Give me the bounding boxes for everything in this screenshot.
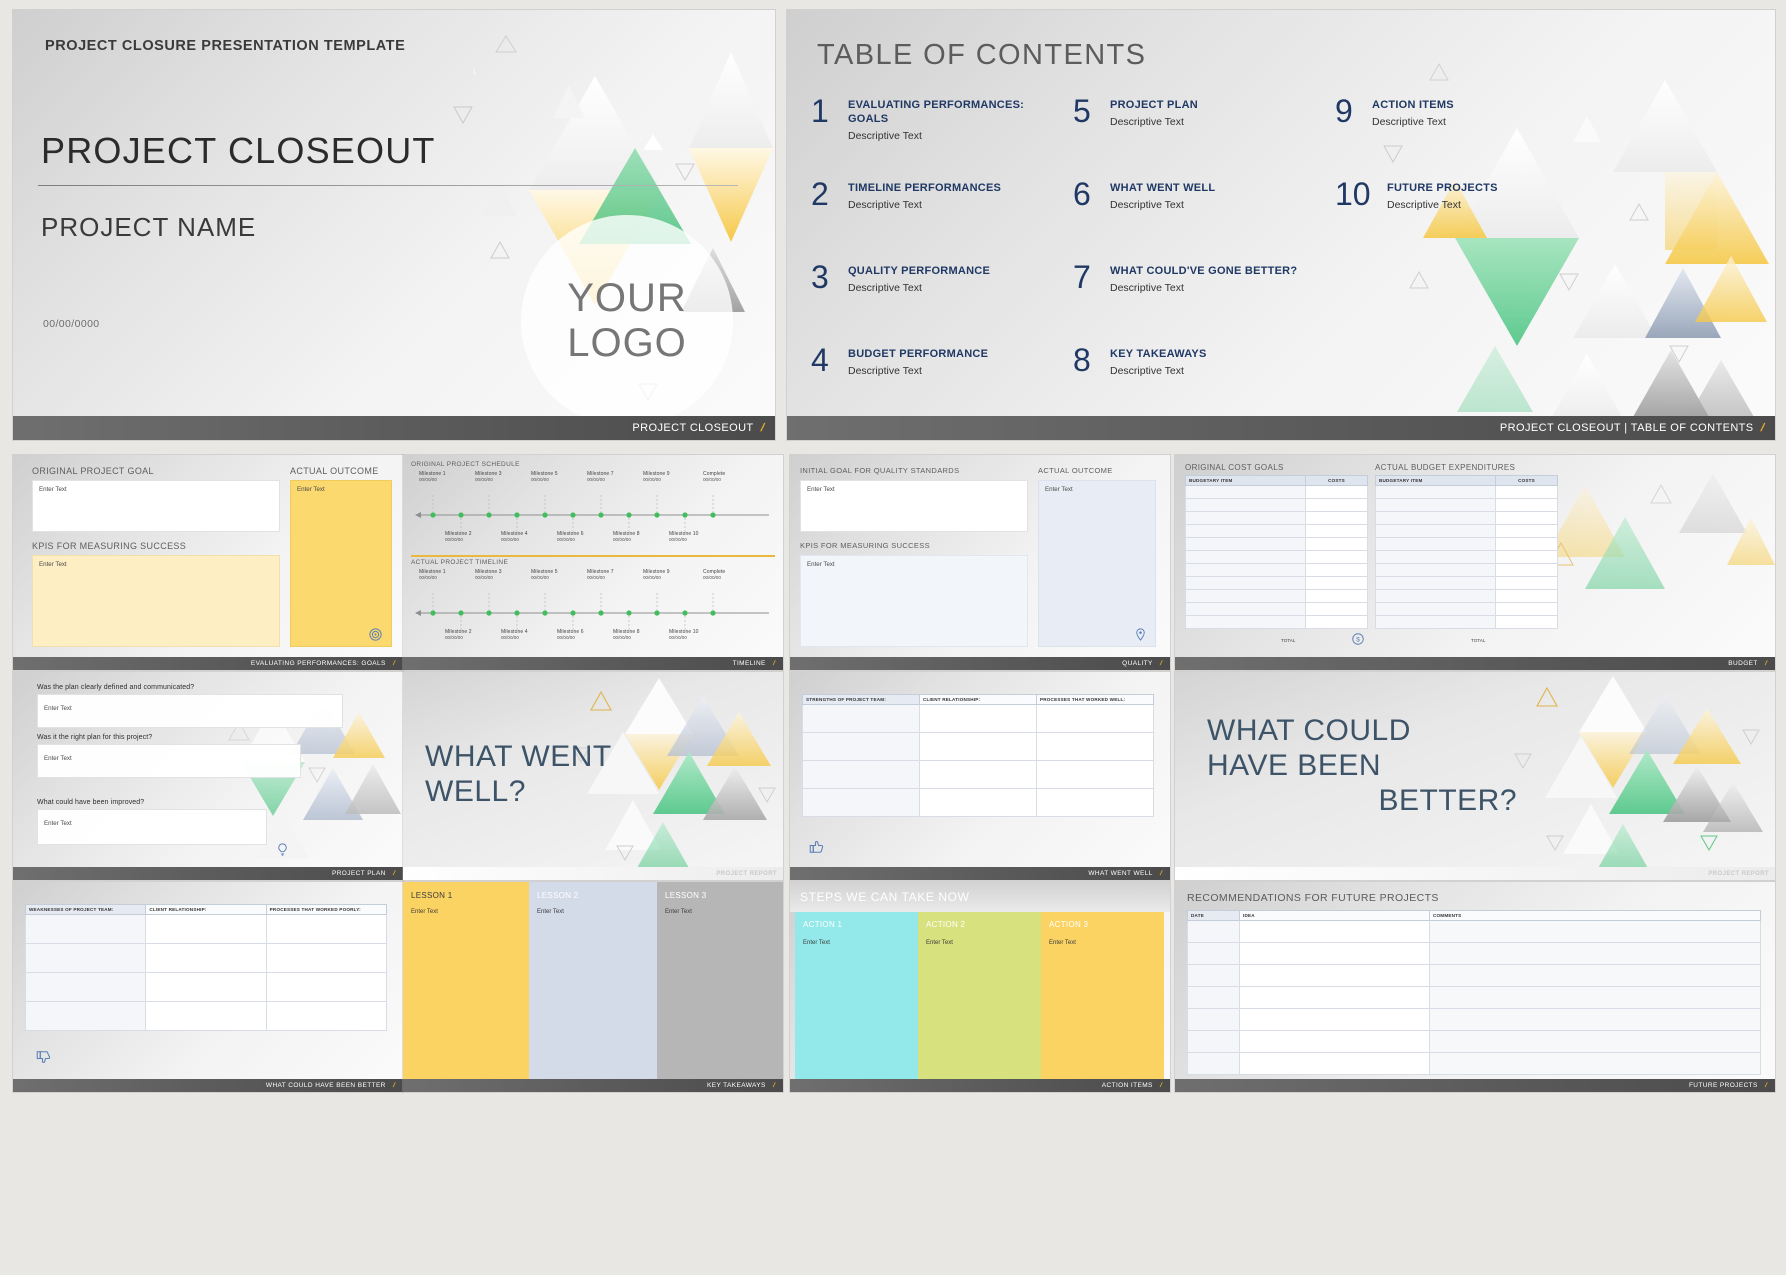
placeholder-text: Enter Text <box>411 909 438 915</box>
placeholder-text: Enter Text <box>926 940 953 946</box>
timeline-actual: Milestone 1 00/00/00 Milestone 3 00/00/0… <box>411 569 775 649</box>
slide-footer: QUALITY / <box>790 657 1170 670</box>
milestone-date: 00/00/00 <box>587 575 614 580</box>
lesson-column-3[interactable]: LESSON 3 Enter Text <box>657 882 783 1079</box>
footer-text: ACTION ITEMS <box>1102 1082 1153 1089</box>
cell[interactable] <box>26 1002 146 1031</box>
col-header-item: BUDGETARY ITEM <box>1376 476 1496 486</box>
milestone-date: 00/00/00 <box>501 635 528 640</box>
milestone-date: 00/00/00 <box>643 477 670 482</box>
action-1-title: ACTION 1 <box>803 920 842 929</box>
footer-text: PROJECT REPORT <box>716 871 777 877</box>
toc-heading: QUALITY PERFORMANCE <box>848 265 990 279</box>
slide-footer: EVALUATING PERFORMANCES: GOALS / <box>13 657 403 670</box>
deck-subtitle: PROJECT NAME <box>41 212 256 243</box>
slide-footer: PROJECT REPORT <box>403 867 783 880</box>
slide-action-items[interactable]: STEPS WE CAN TAKE NOW ACTION 1 Enter Tex… <box>790 882 1170 1092</box>
cell[interactable] <box>1186 616 1306 629</box>
question-2-label: Was it the right plan for this project? <box>37 734 152 741</box>
slide-footer: PROJECT CLOSEOUT / <box>13 416 775 440</box>
title-divider <box>38 185 738 186</box>
toc-item-1[interactable]: 1 EVALUATING PERFORMANCES: GOALS Descrip… <box>811 96 1063 179</box>
input-original-goal[interactable]: Enter Text <box>32 480 280 532</box>
milestone-date: 00/00/00 <box>587 477 614 482</box>
col-header-processes: PROCESSES THAT WORKED WELL: <box>1037 695 1154 705</box>
input-question-3[interactable]: Enter Text <box>37 809 267 845</box>
milestone-date: 00/00/00 <box>557 635 584 640</box>
placeholder-text: Enter Text <box>38 745 300 762</box>
milestone-date: 00/00/00 <box>531 575 558 580</box>
cell[interactable] <box>1430 943 1761 965</box>
section-title-line-2: HAVE BEEN <box>1207 749 1517 784</box>
cell[interactable] <box>1496 512 1558 525</box>
cell[interactable] <box>1306 603 1368 616</box>
input-kpi[interactable]: Enter Text <box>800 555 1028 647</box>
placeholder-text: Enter Text <box>801 556 1027 568</box>
target-icon <box>368 627 383 642</box>
cell[interactable] <box>1240 965 1430 987</box>
footer-text: QUALITY <box>1122 660 1153 667</box>
cell[interactable] <box>1188 943 1240 965</box>
cell[interactable] <box>1376 538 1496 551</box>
actions-title: STEPS WE CAN TAKE NOW <box>800 890 970 904</box>
cell[interactable] <box>1186 551 1306 564</box>
footer-accent-slash: / <box>1764 660 1768 667</box>
cell[interactable] <box>1496 499 1558 512</box>
timeline-divider <box>411 555 775 557</box>
input-actual-outcome[interactable]: Enter Text <box>1038 480 1156 647</box>
label-kpi: KPIs for MEASURING SUCCESS <box>32 541 186 551</box>
label-original-goal: ORIGINAL PROJECT GOAL <box>32 466 154 476</box>
toc-heading: WHAT WENT WELL <box>1110 182 1215 196</box>
cell[interactable] <box>1496 486 1558 499</box>
col-header-cost: COSTS <box>1306 476 1368 486</box>
input-question-1[interactable]: Enter Text <box>37 694 343 728</box>
col-header-weaknesses: WEAKNESSES OF PROJECT TEAM: <box>26 905 146 915</box>
cell[interactable] <box>1376 512 1496 525</box>
label-actual-outcome: ACTUAL OUTCOME <box>1038 466 1113 475</box>
slide-timeline[interactable]: ORIGINAL PROJECT SCHEDULE <box>403 455 783 670</box>
footer-accent-slash: / <box>392 1082 396 1089</box>
milestone-date: 00/00/00 <box>419 575 446 580</box>
col-header-cost: COSTS <box>1496 476 1558 486</box>
placeholder-text: Enter Text <box>33 556 279 568</box>
footer-accent-slash: / <box>1159 870 1163 877</box>
cell[interactable] <box>1376 551 1496 564</box>
toc-item-9[interactable]: 9 ACTION ITEMS Descriptive Text <box>1335 96 1595 179</box>
deck-title: PROJECT CLOSEOUT <box>41 130 436 172</box>
toc-item-7[interactable]: 7 WHAT COULD'VE GONE BETTER? Descriptive… <box>1073 262 1325 345</box>
table-actual-budget[interactable]: BUDGETARY ITEMCOSTS <box>1375 475 1558 629</box>
toc-desc: Descriptive Text <box>1387 199 1498 211</box>
cell[interactable] <box>1188 1009 1240 1031</box>
cell[interactable] <box>1186 486 1306 499</box>
cell[interactable] <box>1496 551 1558 564</box>
milestone-date: 00/00/00 <box>669 635 699 640</box>
cell[interactable] <box>1430 921 1761 943</box>
toc-desc: Descriptive Text <box>1110 116 1198 128</box>
input-actual-outcome[interactable]: Enter Text <box>290 480 392 647</box>
toc-desc: Descriptive Text <box>1110 282 1297 294</box>
cell[interactable] <box>1306 551 1368 564</box>
action-2-title: ACTION 2 <box>926 920 965 929</box>
cell[interactable] <box>1240 1053 1430 1075</box>
toc-heading: WHAT COULD'VE GONE BETTER? <box>1110 265 1297 279</box>
logo-placeholder[interactable]: YOUR LOGO <box>521 215 733 427</box>
cell[interactable] <box>26 973 146 1002</box>
cell[interactable] <box>803 733 920 761</box>
cell[interactable] <box>1240 943 1430 965</box>
cell[interactable] <box>26 915 146 944</box>
slide-footer: PROJECT PLAN / <box>13 867 403 880</box>
cell[interactable] <box>1376 499 1496 512</box>
table-went-well[interactable]: STRENGTHS OF PROJECT TEAM: CLIENT RELATI… <box>802 694 1154 817</box>
placeholder-text: Enter Text <box>1039 481 1155 493</box>
cell[interactable] <box>920 789 1037 817</box>
cell[interactable] <box>1496 590 1558 603</box>
toc-item-2[interactable]: 2 TIMELINE PERFORMANCES Descriptive Text <box>811 179 1063 262</box>
milestone-date: 00/00/00 <box>669 537 699 542</box>
input-initial-goal-quality[interactable]: Enter Text <box>800 480 1028 532</box>
label-kpi: KPIs for MEASURING SUCCESS <box>800 541 930 550</box>
cell[interactable] <box>1240 921 1430 943</box>
footer-text: WHAT WENT WELL <box>1088 870 1152 877</box>
cell[interactable] <box>1430 1031 1761 1053</box>
slide-table-of-contents[interactable]: TABLE OF CONTENTS 1 EVALUATING PERFORMAN… <box>787 10 1775 440</box>
toc-item-10[interactable]: 10 FUTURE PROJECTS Descriptive Text <box>1335 179 1595 262</box>
footer-accent-slash: / <box>759 422 766 434</box>
milestone-date: 00/00/00 <box>445 537 472 542</box>
slide-footer: KEY TAKEAWAYS / <box>403 1079 783 1092</box>
toc-desc: Descriptive Text <box>1110 199 1215 211</box>
cell[interactable] <box>1376 590 1496 603</box>
cell[interactable] <box>1240 1009 1430 1031</box>
toc-heading: ACTION ITEMS <box>1372 99 1454 113</box>
cell[interactable] <box>1306 538 1368 551</box>
cell[interactable] <box>1376 577 1496 590</box>
question-3-label: What could have been improved? <box>37 799 144 806</box>
cell[interactable] <box>1186 525 1306 538</box>
toc-desc: Descriptive Text <box>848 282 990 294</box>
cell[interactable] <box>1306 499 1368 512</box>
table-future-projects[interactable]: DATE IDEA COMMENTS <box>1187 910 1761 1075</box>
slide-budget[interactable]: ORIGINAL COST GOALS BUDGETARY ITEMCOSTS … <box>1175 455 1775 670</box>
cell[interactable] <box>146 973 266 1002</box>
lesson-column-1[interactable]: LESSON 1 Enter Text <box>403 882 529 1079</box>
slide-quality[interactable]: INITIAL GOAL FOR QUALITY STANDARDS Enter… <box>790 455 1170 670</box>
cell[interactable] <box>1306 525 1368 538</box>
col-header-idea: IDEA <box>1240 911 1430 921</box>
toc-item-6[interactable]: 6 WHAT WENT WELL Descriptive Text <box>1073 179 1325 262</box>
footer-text: PROJECT REPORT <box>1708 871 1769 877</box>
cell[interactable] <box>1037 761 1154 789</box>
slide-future-projects[interactable]: RECOMMENDATIONS FOR FUTURE PROJECTS DATE… <box>1175 882 1775 1092</box>
footer-accent-slash: / <box>1764 1082 1768 1089</box>
toc-grid: 1 EVALUATING PERFORMANCES: GOALS Descrip… <box>811 96 1765 428</box>
cell[interactable] <box>1188 965 1240 987</box>
milestone-date: 00/00/00 <box>501 537 528 542</box>
section-title-line-1: WHAT WENT <box>425 740 655 775</box>
cell[interactable] <box>1496 564 1558 577</box>
footer-text: BUDGET <box>1728 660 1758 667</box>
lesson-3-title: LESSON 3 <box>665 891 707 900</box>
placeholder-text: Enter Text <box>537 909 564 915</box>
cell[interactable] <box>1496 525 1558 538</box>
quality-gauge-icon <box>1133 627 1148 642</box>
slide-what-could-be-better-title[interactable]: WHAT COULD HAVE BEEN BETTER? PROJECT REP… <box>1175 672 1775 880</box>
cell[interactable] <box>1240 987 1430 1009</box>
footer-accent-slash: / <box>772 660 776 667</box>
milestone-date: 00/00/00 <box>613 537 640 542</box>
cell[interactable] <box>1430 965 1761 987</box>
cell[interactable] <box>1188 921 1240 943</box>
cell[interactable] <box>1376 603 1496 616</box>
cell[interactable] <box>1186 538 1306 551</box>
footer-text: EVALUATING PERFORMANCES: GOALS <box>251 660 386 667</box>
slide-footer: PROJECT CLOSEOUT | TABLE OF CONTENTS / <box>787 416 1775 440</box>
label-actual-outcome: ACTUAL OUTCOME <box>290 466 379 476</box>
footer-text: PROJECT PLAN <box>332 870 386 877</box>
cell[interactable] <box>803 705 920 733</box>
footer-text: WHAT COULD HAVE BEEN BETTER <box>266 1082 386 1089</box>
milestone-date: 00/00/00 <box>643 575 670 580</box>
toc-heading: TIMELINE PERFORMANCES <box>848 182 1001 196</box>
toc-heading: BUDGET PERFORMANCE <box>848 348 988 362</box>
footer-text: TIMELINE <box>733 660 766 667</box>
toc-number: 1 <box>811 96 838 179</box>
label-original-schedule: ORIGINAL PROJECT SCHEDULE <box>411 461 520 468</box>
cell[interactable] <box>920 733 1037 761</box>
cell[interactable] <box>1188 1031 1240 1053</box>
cell[interactable] <box>1430 1053 1761 1075</box>
cell[interactable] <box>1306 564 1368 577</box>
milestone-date: 00/00/00 <box>475 575 502 580</box>
toc-heading: FUTURE PROJECTS <box>1387 182 1498 196</box>
cell[interactable] <box>1037 733 1154 761</box>
cell[interactable] <box>1306 616 1368 629</box>
cell[interactable] <box>1376 616 1496 629</box>
cell[interactable] <box>1186 499 1306 512</box>
label-original-cost-goals: ORIGINAL COST GOALS <box>1185 463 1284 472</box>
cell[interactable] <box>266 915 386 944</box>
footer-accent-slash: / <box>392 870 396 877</box>
cell[interactable] <box>920 761 1037 789</box>
cell[interactable] <box>1430 1009 1761 1031</box>
col-header-date: DATE <box>1188 911 1240 921</box>
footer-accent-slash: / <box>392 660 396 667</box>
milestone-date: 00/00/00 <box>613 635 640 640</box>
logo-line-2: LOGO <box>567 321 687 366</box>
cell[interactable] <box>1376 564 1496 577</box>
label-initial-goal-quality: INITIAL GOAL FOR QUALITY STANDARDS <box>800 466 959 475</box>
milestone-date: 00/00/00 <box>703 477 725 482</box>
col-header-item: BUDGETARY ITEM <box>1186 476 1306 486</box>
slide-key-takeaways[interactable]: LESSON 1 Enter Text LESSON 2 Enter Text … <box>403 882 783 1092</box>
slide-footer: PROJECT REPORT <box>1175 867 1775 880</box>
deck-kicker: PROJECT CLOSURE PRESENTATION TEMPLATE <box>45 38 405 54</box>
cell[interactable] <box>1376 486 1496 499</box>
cell[interactable] <box>1306 486 1368 499</box>
toc-number: 2 <box>811 179 838 262</box>
cell[interactable] <box>266 973 386 1002</box>
deck-date: 00/00/0000 <box>43 318 100 330</box>
label-actual-timeline: ACTUAL PROJECT TIMELINE <box>411 559 508 566</box>
money-icon: $ <box>1351 632 1366 647</box>
cell[interactable] <box>1188 1053 1240 1075</box>
action-column-1[interactable]: ACTION 1 Enter Text <box>795 912 918 1079</box>
footer-text: FUTURE PROJECTS <box>1689 1082 1758 1089</box>
cell[interactable] <box>146 944 266 973</box>
toc-number: 3 <box>811 262 838 345</box>
cell[interactable] <box>1496 538 1558 551</box>
cell[interactable] <box>1186 603 1306 616</box>
toc-item-spacer-a <box>1335 262 1595 345</box>
toc-number: 10 <box>1335 179 1377 262</box>
action-column-3[interactable]: ACTION 3 Enter Text <box>1041 912 1164 1079</box>
future-title: RECOMMENDATIONS FOR FUTURE PROJECTS <box>1187 892 1439 904</box>
table-original-cost-goals[interactable]: BUDGETARY ITEMCOSTS <box>1185 475 1368 629</box>
footer-text: KEY TAKEAWAYS <box>707 1082 766 1089</box>
action-column-2[interactable]: ACTION 2 Enter Text <box>918 912 1041 1079</box>
cell[interactable] <box>1306 512 1368 525</box>
slide-footer: FUTURE PROJECTS / <box>1175 1079 1775 1092</box>
milestone-date: 00/00/00 <box>419 477 446 482</box>
milestone-date: 00/00/00 <box>703 575 725 580</box>
lightbulb-icon <box>275 842 290 857</box>
label-actual-budget: ACTUAL BUDGET EXPENDITURES <box>1375 463 1515 472</box>
cell[interactable] <box>266 944 386 973</box>
table-better[interactable]: WEAKNESSES OF PROJECT TEAM: CLIENT RELAT… <box>25 904 387 1031</box>
lesson-1-title: LESSON 1 <box>411 891 453 900</box>
footer-accent-slash: / <box>772 1082 776 1089</box>
toc-heading: EVALUATING PERFORMANCES: GOALS <box>848 99 1063 127</box>
milestone-date: 00/00/00 <box>475 477 502 482</box>
milestone-date: 00/00/00 <box>531 477 558 482</box>
cell[interactable] <box>1037 705 1154 733</box>
cell[interactable] <box>1037 789 1154 817</box>
toc-number: 7 <box>1073 262 1100 345</box>
cell[interactable] <box>146 915 266 944</box>
thumbs-up-icon <box>808 838 826 856</box>
cell[interactable] <box>1240 1031 1430 1053</box>
logo-line-1: YOUR <box>567 276 687 321</box>
svg-text:$: $ <box>1356 636 1360 643</box>
toc-number: 9 <box>1335 96 1362 179</box>
cell[interactable] <box>1186 564 1306 577</box>
section-title-line-1: WHAT COULD <box>1207 714 1517 749</box>
input-question-2[interactable]: Enter Text <box>37 744 301 778</box>
toc-number: 5 <box>1073 96 1100 179</box>
cell[interactable] <box>920 705 1037 733</box>
cell[interactable] <box>1186 577 1306 590</box>
slide-footer: WHAT WENT WELL / <box>790 867 1170 880</box>
toc-item-5[interactable]: 5 PROJECT PLAN Descriptive Text <box>1073 96 1325 179</box>
toc-desc: Descriptive Text <box>1372 116 1454 128</box>
question-1-label: Was the plan clearly defined and communi… <box>37 684 194 691</box>
total-label-actual: TOTAL <box>1471 638 1485 643</box>
cell[interactable] <box>803 789 920 817</box>
cell[interactable] <box>1430 987 1761 1009</box>
placeholder-text: Enter Text <box>33 481 279 493</box>
cell[interactable] <box>266 1002 386 1031</box>
cell[interactable] <box>1496 603 1558 616</box>
footer-accent-slash: / <box>1159 660 1163 667</box>
slide-project-plan[interactable]: Was the plan clearly defined and communi… <box>13 672 403 880</box>
col-header-client: CLIENT RELATIONSHIP: <box>146 905 266 915</box>
cell[interactable] <box>26 944 146 973</box>
total-label-original: TOTAL <box>1281 638 1295 643</box>
timeline-original: Milestone 1 00/00/00 Milestone 3 00/00/0… <box>411 471 775 551</box>
cell[interactable] <box>1188 987 1240 1009</box>
slide-what-could-be-better[interactable]: WEAKNESSES OF PROJECT TEAM: CLIENT RELAT… <box>13 882 403 1092</box>
placeholder-text: Enter Text <box>38 810 266 827</box>
actions-title-bar: STEPS WE CAN TAKE NOW <box>790 882 1170 912</box>
placeholder-text: Enter Text <box>1049 940 1076 946</box>
slide-what-went-well-title[interactable]: WHAT WENT WELL? PROJECT REPORT <box>403 672 783 880</box>
toc-heading: KEY TAKEAWAYS <box>1110 348 1207 362</box>
toc-number: 6 <box>1073 179 1100 262</box>
cell[interactable] <box>1186 512 1306 525</box>
col-header-client: CLIENT RELATIONSHIP: <box>920 695 1037 705</box>
col-header-processes: PROCESSES THAT WORKED POORLY: <box>266 905 386 915</box>
lesson-2-title: LESSON 2 <box>537 891 579 900</box>
toc-desc: Descriptive Text <box>848 199 1001 211</box>
slide-footer: WHAT COULD HAVE BEEN BETTER / <box>13 1079 403 1092</box>
section-title-line-3: BETTER? <box>1207 784 1517 819</box>
input-kpi[interactable]: Enter Text <box>32 555 280 647</box>
placeholder-text: Enter Text <box>801 481 1027 493</box>
footer-accent-slash: / <box>1159 1082 1163 1089</box>
cell[interactable] <box>1496 577 1558 590</box>
slide-footer: ACTION ITEMS / <box>790 1079 1170 1092</box>
cell[interactable] <box>1186 590 1306 603</box>
cell[interactable] <box>803 761 920 789</box>
section-title: WHAT WENT WELL? <box>425 740 655 810</box>
thumbs-down-icon <box>35 1048 53 1066</box>
section-title: WHAT COULD HAVE BEEN BETTER? <box>1207 714 1517 818</box>
slide-footer: TIMELINE / <box>403 657 783 670</box>
toc-heading: PROJECT PLAN <box>1110 99 1198 113</box>
placeholder-text: Enter Text <box>665 909 692 915</box>
col-header-comments: COMMENTS <box>1430 911 1761 921</box>
footer-accent-slash: / <box>1759 422 1766 434</box>
toc-desc: Descriptive Text <box>848 365 988 377</box>
cell[interactable] <box>146 1002 266 1031</box>
placeholder-text: Enter Text <box>291 481 391 493</box>
toc-title: TABLE OF CONTENTS <box>817 39 1146 72</box>
cell[interactable] <box>1306 577 1368 590</box>
cell[interactable] <box>1376 525 1496 538</box>
slide-evaluating-goals[interactable]: ORIGINAL PROJECT GOAL Enter Text KPIs fo… <box>13 455 403 670</box>
section-title-line-2: WELL? <box>425 775 655 810</box>
footer-text: PROJECT CLOSEOUT | TABLE OF CONTENTS <box>1500 422 1754 434</box>
toc-desc: Descriptive Text <box>848 130 1063 142</box>
footer-text: PROJECT CLOSEOUT <box>632 422 753 434</box>
cell[interactable] <box>1496 616 1558 629</box>
slide-footer: BUDGET / <box>1175 657 1775 670</box>
lesson-column-2[interactable]: LESSON 2 Enter Text <box>529 882 657 1079</box>
milestone-date: 00/00/00 <box>445 635 472 640</box>
slide-overview-page: YOUR LOGO PROJECT CLOSURE PRESENTATION T… <box>0 0 1786 1275</box>
toc-desc: Descriptive Text <box>1110 365 1207 377</box>
col-header-strengths: STRENGTHS OF PROJECT TEAM: <box>803 695 920 705</box>
toc-item-3[interactable]: 3 QUALITY PERFORMANCE Descriptive Text <box>811 262 1063 345</box>
cell[interactable] <box>1306 590 1368 603</box>
slide-title[interactable]: YOUR LOGO PROJECT CLOSURE PRESENTATION T… <box>13 10 775 440</box>
slide-what-went-well[interactable]: STRENGTHS OF PROJECT TEAM: CLIENT RELATI… <box>790 672 1170 880</box>
milestone-date: 00/00/00 <box>557 537 584 542</box>
decor-triangles-better <box>1495 672 1775 880</box>
